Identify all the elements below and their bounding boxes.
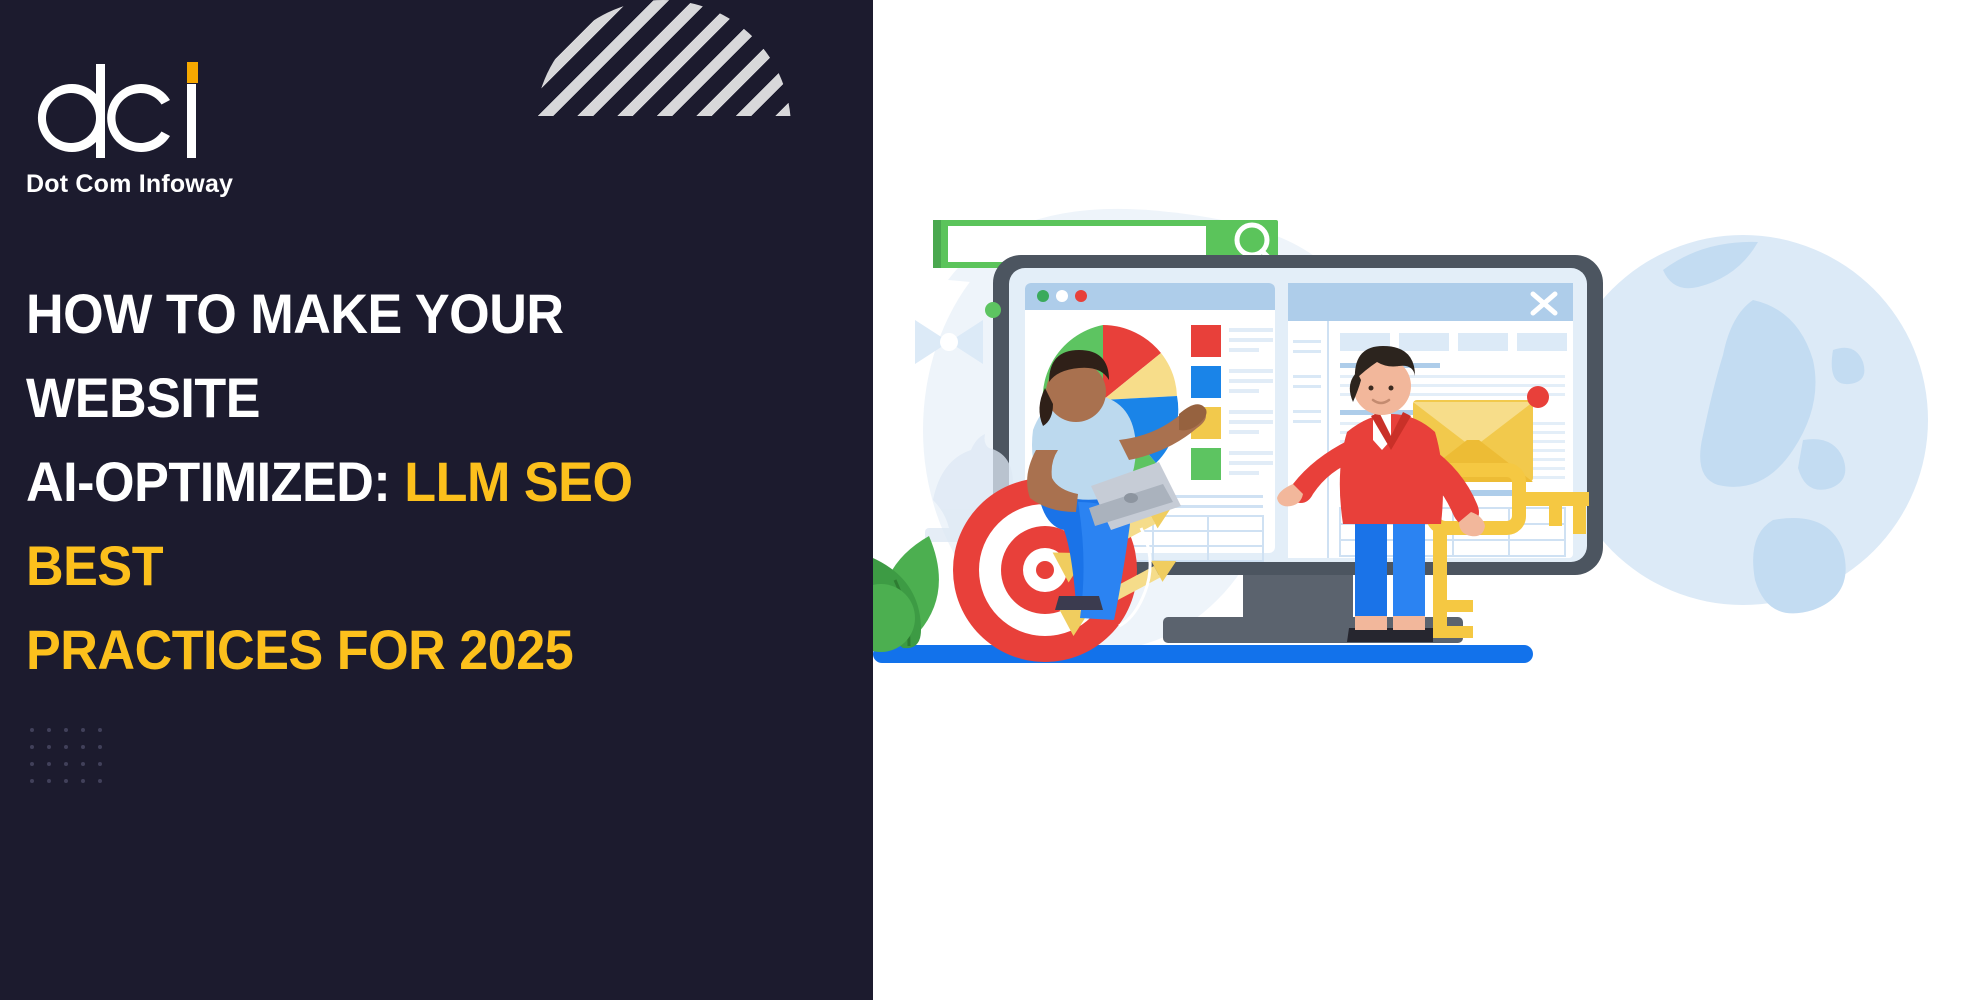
notification-badge <box>1527 386 1549 408</box>
blog-banner: Dot Com Infoway HOW TO MAKE YOUR WEBSITE… <box>0 0 1978 1000</box>
globe-icon <box>1558 235 1928 613</box>
left-dark-panel: Dot Com Infoway HOW TO MAKE YOUR WEBSITE… <box>0 0 873 1000</box>
green-dot <box>985 302 1001 318</box>
dot-grid-decoration <box>30 728 115 796</box>
window-dot-white <box>1056 290 1068 302</box>
page-title: HOW TO MAKE YOUR WEBSITE AI-OPTIMIZED: L… <box>26 272 779 692</box>
brand-tagline: Dot Com Infoway <box>26 170 233 199</box>
brand-logo[interactable]: Dot Com Infoway <box>24 62 233 199</box>
headline-line-2: AI-OPTIMIZED: LLM SEO BEST <box>26 440 779 608</box>
striped-circle-decoration <box>535 0 791 256</box>
right-illustration-panel <box>873 0 1978 1000</box>
headline-line-3: PRACTICES FOR 2025 <box>26 608 779 692</box>
dci-logomark <box>24 62 224 160</box>
window-dot-green <box>1037 290 1049 302</box>
headline-line-1: HOW TO MAKE YOUR WEBSITE <box>26 272 779 440</box>
window-dot-red <box>1075 290 1087 302</box>
seo-analytics-illustration <box>873 0 1978 1000</box>
